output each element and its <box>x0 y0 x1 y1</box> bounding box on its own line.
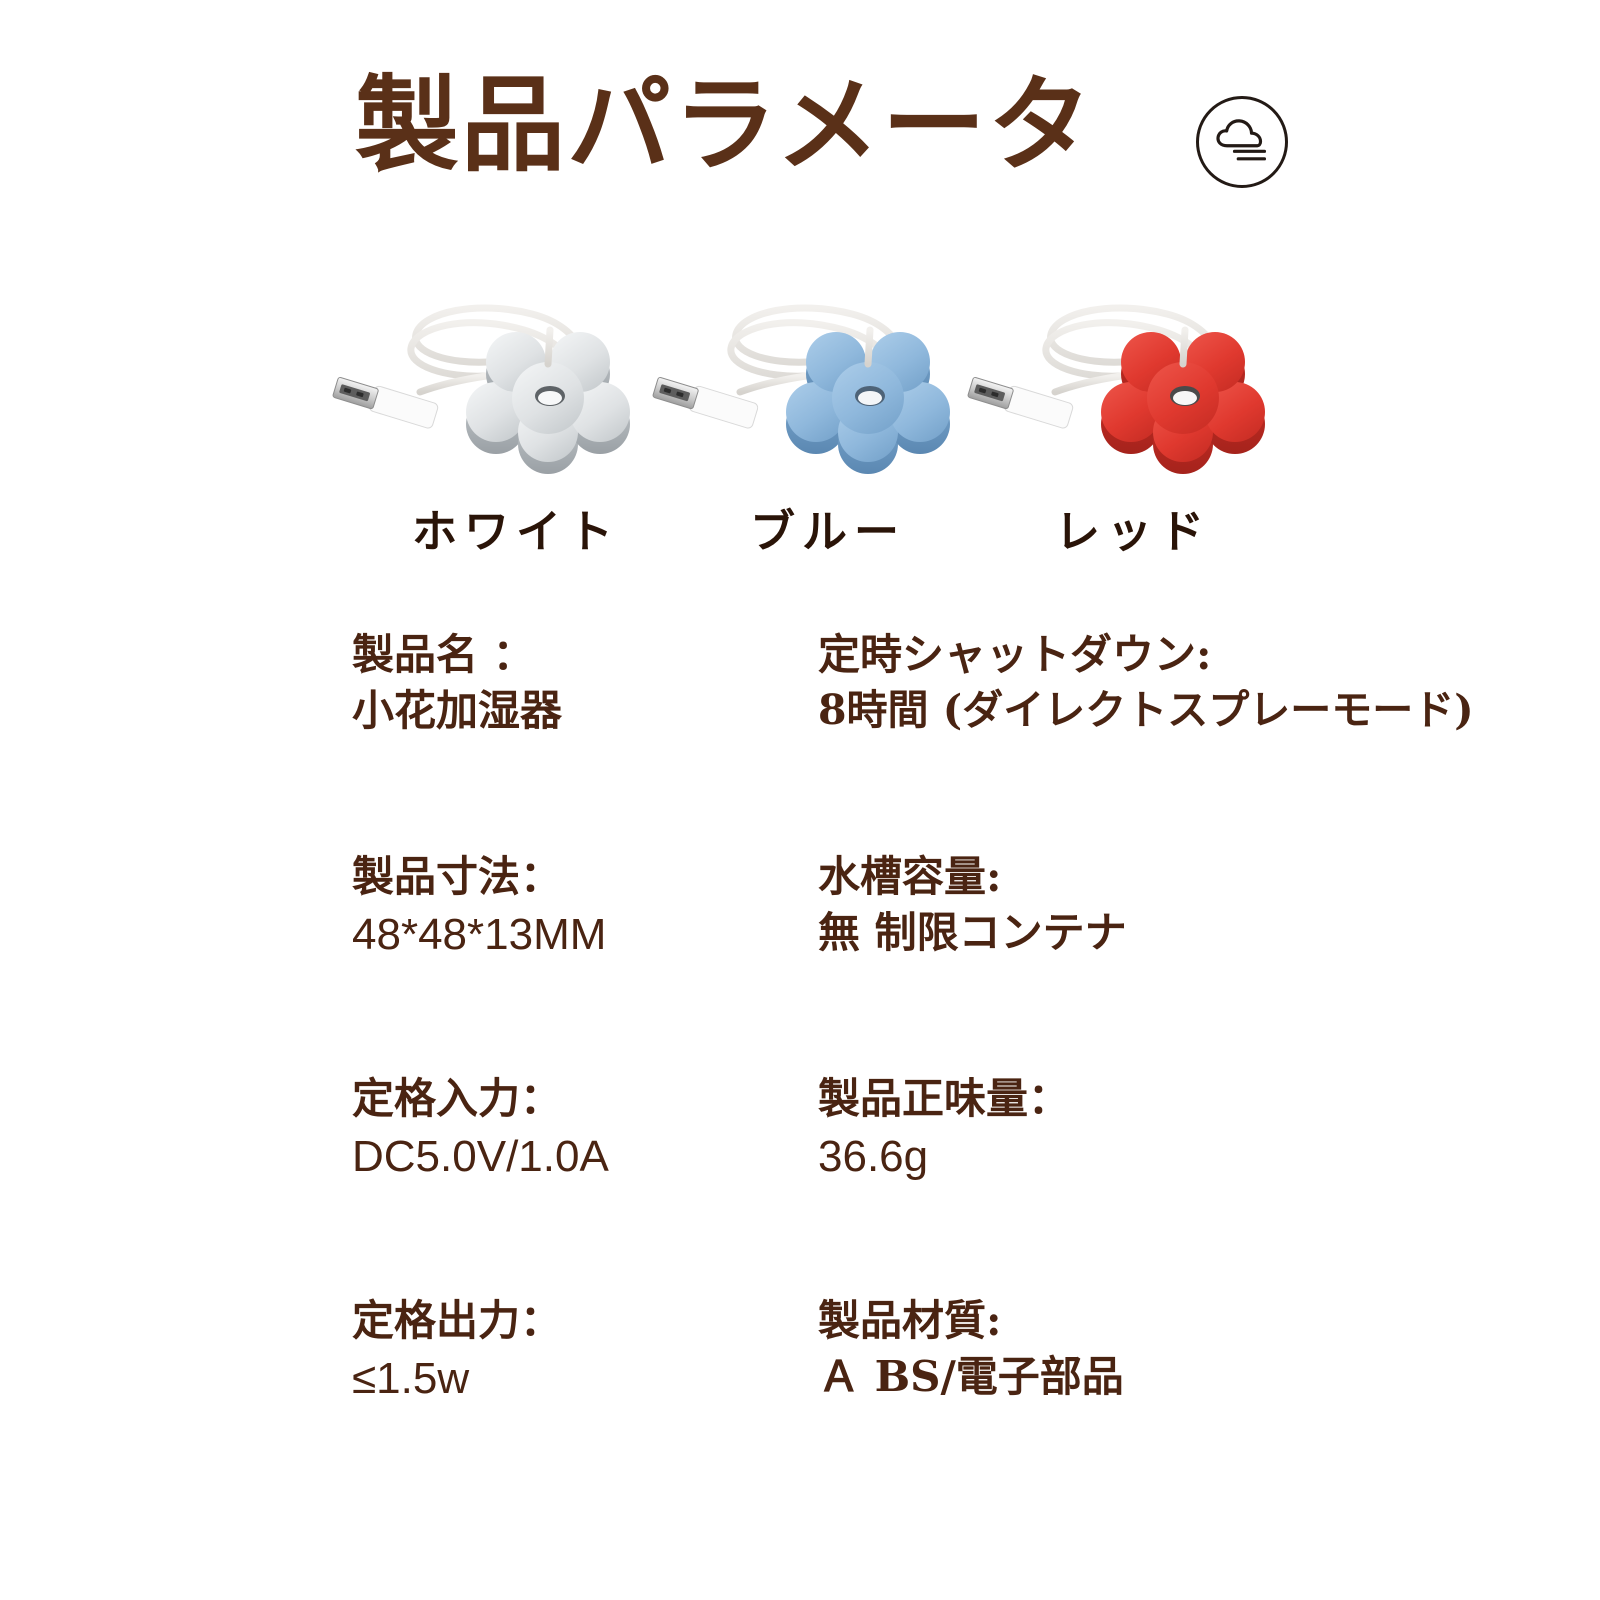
product-image-blue <box>630 268 980 500</box>
product-parameters-page: 製品パラメータ <box>0 0 1600 1600</box>
cloud-mist-icon <box>1196 96 1288 188</box>
spec-label: 製品正味量： <box>818 1072 1578 1126</box>
product-color-gallery <box>300 268 1310 500</box>
spec-value: 8時間 (ダイレクトスプレーモード) <box>818 684 1578 737</box>
spec-item-product-name: 製品名 ： 小花加湿器 <box>352 628 792 738</box>
spec-value: Ａ BS/電子部品 <box>818 1350 1578 1405</box>
specification-grid: 製品名 ： 小花加湿器 定時シャットダウン: 8時間 (ダイレクトスプレーモード… <box>0 628 1600 1508</box>
spec-item-tank-capacity: 水槽容量: 無 制限コンテナ <box>818 850 1578 960</box>
spec-value: 36.6g <box>818 1128 1578 1185</box>
spec-label: 定格出力： <box>352 1294 792 1348</box>
spec-value: ≤1.5w <box>352 1350 792 1407</box>
spec-label: 水槽容量: <box>818 850 1578 904</box>
spec-item-rated-output: 定格出力： ≤1.5w <box>352 1294 792 1407</box>
spec-item-timed-shutdown: 定時シャットダウン: 8時間 (ダイレクトスプレーモード) <box>818 628 1578 737</box>
spec-label: 製品材質: <box>818 1294 1578 1348</box>
product-image-red <box>945 268 1295 500</box>
color-label-red: レッド <box>1055 495 1211 560</box>
color-label-blue: ブルー <box>750 495 906 560</box>
spec-item-material: 製品材質: Ａ BS/電子部品 <box>818 1294 1578 1404</box>
spec-label: 定時シャットダウン: <box>818 628 1578 682</box>
spec-label: 製品寸法： <box>352 850 792 904</box>
spec-row: 定格入力： DC5.0V/1.0A 製品正味量： 36.6g <box>0 1072 1600 1292</box>
spec-item-rated-input: 定格入力： DC5.0V/1.0A <box>352 1072 792 1185</box>
spec-row: 製品名 ： 小花加湿器 定時シャットダウン: 8時間 (ダイレクトスプレーモード… <box>0 628 1600 848</box>
spec-row: 定格出力： ≤1.5w 製品材質: Ａ BS/電子部品 <box>0 1294 1600 1514</box>
product-image-white <box>310 268 660 500</box>
page-title: 製品パラメータ <box>355 68 1094 182</box>
spec-label: 製品名 ： <box>352 628 792 682</box>
page-header: 製品パラメータ <box>0 34 1600 184</box>
color-label-white: ホワイト <box>412 495 620 560</box>
spec-label: 定格入力： <box>352 1072 792 1126</box>
spec-value: 無 制限コンテナ <box>818 906 1578 961</box>
spec-value: 48*48*13MM <box>352 906 792 963</box>
spec-item-dimensions: 製品寸法： 48*48*13MM <box>352 850 792 963</box>
color-captions: ホワイト ブルー レッド <box>300 495 1310 565</box>
spec-value: DC5.0V/1.0A <box>352 1128 792 1185</box>
spec-item-net-weight: 製品正味量： 36.6g <box>818 1072 1578 1185</box>
spec-row: 製品寸法： 48*48*13MM 水槽容量: 無 制限コンテナ <box>0 850 1600 1070</box>
spec-value: 小花加湿器 <box>352 684 792 739</box>
